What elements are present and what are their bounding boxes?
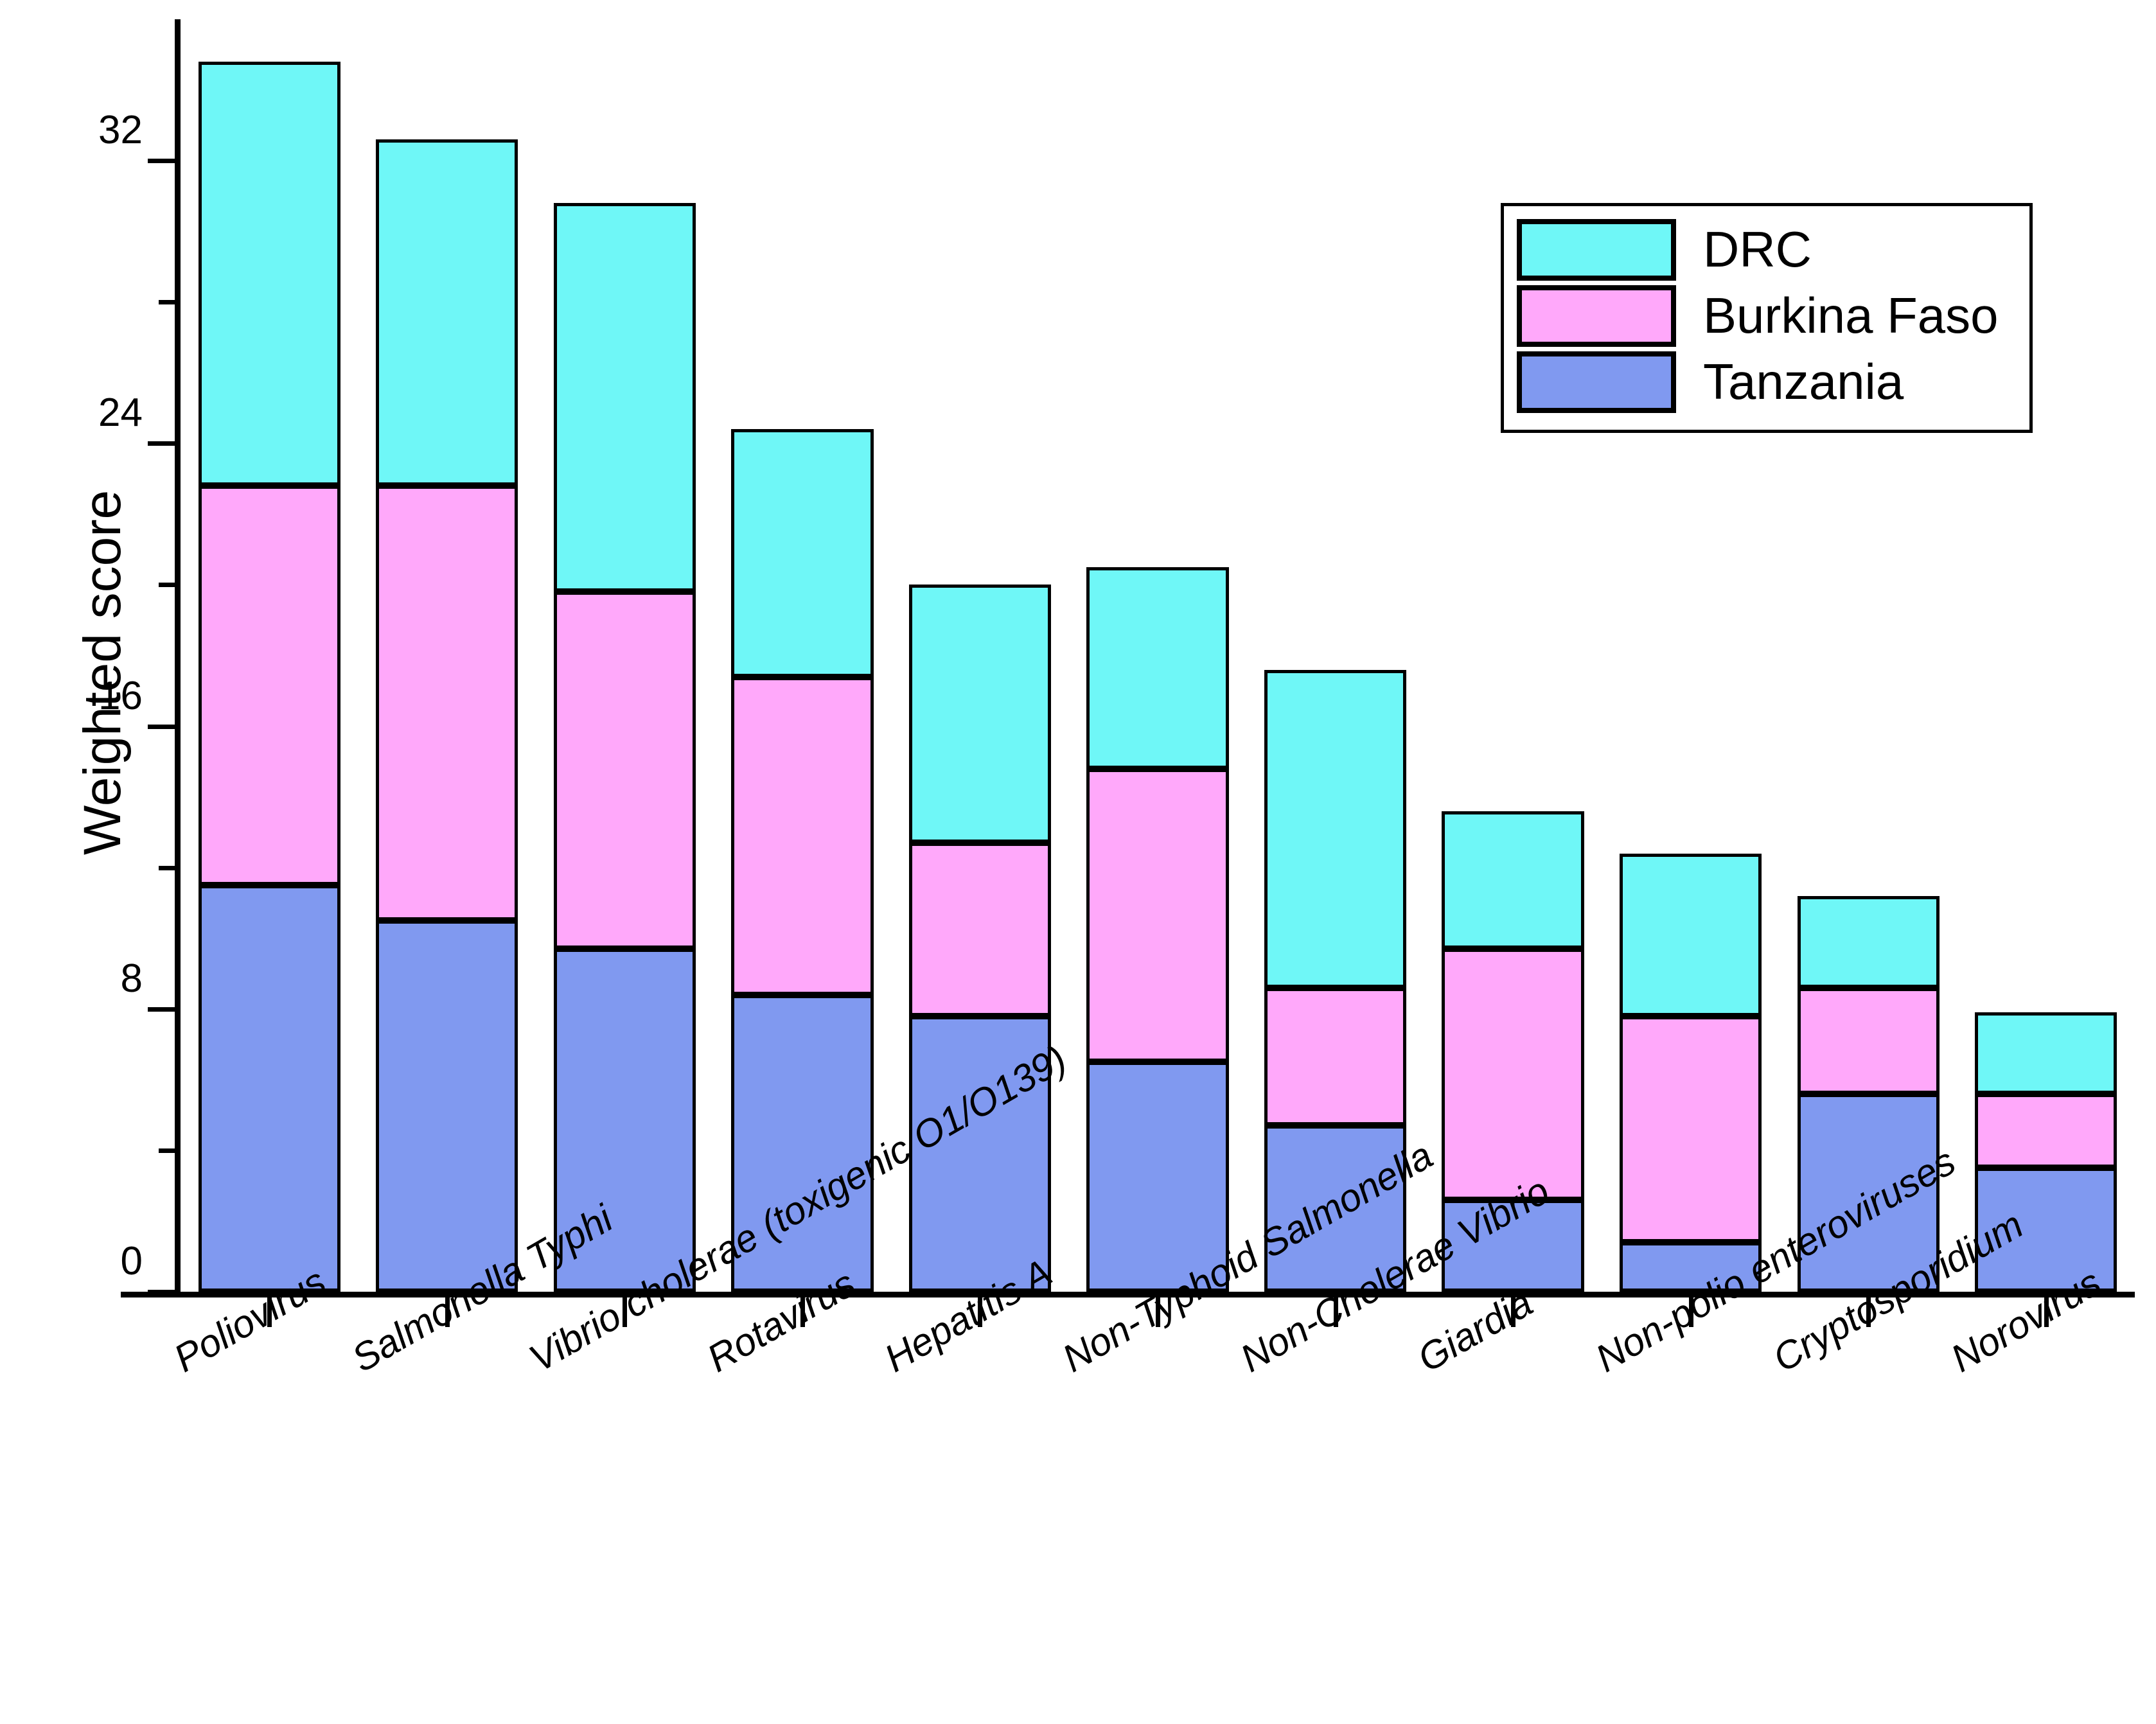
chart-canvas: Weighted score 08162432 PoliovirusSalmon… xyxy=(0,0,2156,1724)
y-tick-major xyxy=(148,159,175,163)
y-tick-label: 0 xyxy=(0,1242,143,1281)
bar-segment-burkina-faso[interactable] xyxy=(554,592,696,949)
y-tick-label: 32 xyxy=(0,110,143,150)
y-tick-major xyxy=(148,441,175,446)
y-tick-minor xyxy=(159,866,175,870)
bar-segment-drc[interactable] xyxy=(1442,811,1584,949)
bar-salmonella-typhi[interactable] xyxy=(376,139,518,1292)
bar-segment-drc[interactable] xyxy=(909,585,1051,843)
y-tick-major xyxy=(148,1007,175,1012)
bar-segment-drc[interactable] xyxy=(1620,854,1762,1016)
bar-segment-tanzania[interactable] xyxy=(199,885,340,1292)
legend-swatch-tanzania xyxy=(1517,351,1676,413)
bar-segment-burkina-faso[interactable] xyxy=(199,486,340,885)
y-tick-minor xyxy=(159,1148,175,1153)
bar-segment-burkina-faso[interactable] xyxy=(1442,949,1584,1200)
legend-item-burkina-faso[interactable]: Burkina Faso xyxy=(1517,283,2017,349)
bar-segment-drc[interactable] xyxy=(1798,896,1940,988)
legend-label-tanzania: Tanzania xyxy=(1703,353,1904,411)
bar-segment-drc[interactable] xyxy=(199,62,340,486)
y-tick-minor xyxy=(159,300,175,304)
bar-segment-burkina-faso[interactable] xyxy=(1264,988,1406,1126)
bar-poliovirus[interactable] xyxy=(199,62,340,1292)
bar-vibrio-cholerae-toxigenic-o1-o139[interactable] xyxy=(554,203,696,1292)
bar-segment-drc[interactable] xyxy=(554,203,696,592)
bar-segment-drc[interactable] xyxy=(731,429,873,676)
bar-segment-drc[interactable] xyxy=(1086,567,1228,769)
bar-segment-burkina-faso[interactable] xyxy=(1975,1094,2117,1168)
y-tick-label: 16 xyxy=(0,676,143,716)
legend-item-tanzania[interactable]: Tanzania xyxy=(1517,349,2017,415)
y-axis-title: Weighted score xyxy=(73,448,133,897)
bar-segment-tanzania[interactable] xyxy=(376,920,518,1292)
y-axis-line xyxy=(175,19,181,1297)
bar-segment-burkina-faso[interactable] xyxy=(1620,1016,1762,1242)
chart-legend: DRC Burkina Faso Tanzania xyxy=(1501,203,2033,433)
bar-non-polio-enteroviruses[interactable] xyxy=(1620,854,1762,1292)
y-tick-major xyxy=(148,725,175,729)
y-tick-minor xyxy=(159,583,175,587)
bar-segment-burkina-faso[interactable] xyxy=(376,486,518,920)
bar-segment-burkina-faso[interactable] xyxy=(1798,988,1940,1094)
legend-swatch-burkina-faso xyxy=(1517,285,1676,347)
bar-segment-burkina-faso[interactable] xyxy=(731,677,873,995)
bar-non-typhoid-salmonella[interactable] xyxy=(1086,567,1228,1292)
y-tick-major xyxy=(148,1290,175,1294)
bar-segment-burkina-faso[interactable] xyxy=(1086,769,1228,1062)
legend-swatch-drc xyxy=(1517,219,1676,281)
y-tick-label: 8 xyxy=(0,959,143,999)
bar-segment-drc[interactable] xyxy=(1264,670,1406,988)
bar-segment-drc[interactable] xyxy=(1975,1012,2117,1094)
legend-label-burkina-faso: Burkina Faso xyxy=(1703,286,1999,345)
bar-segment-drc[interactable] xyxy=(376,139,518,486)
bar-hepatitis-a[interactable] xyxy=(909,585,1051,1292)
legend-item-drc[interactable]: DRC xyxy=(1517,216,2017,283)
y-tick-label: 24 xyxy=(0,393,143,433)
legend-label-drc: DRC xyxy=(1703,220,1812,279)
bar-segment-burkina-faso[interactable] xyxy=(909,843,1051,1016)
